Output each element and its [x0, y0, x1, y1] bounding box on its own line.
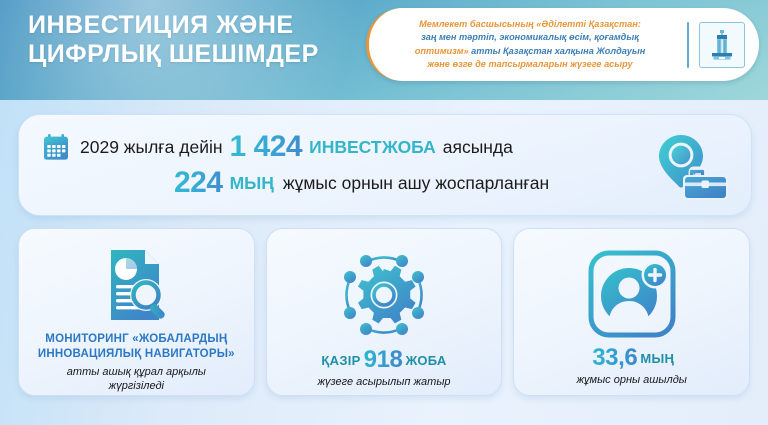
- card-jobs-created-unit: МЫҢ: [640, 351, 674, 366]
- mandate-line-2: заң мен тәртіп, экономикалық өсім, қоғам…: [381, 31, 679, 44]
- card-jobs-created-sub: жұмыс орны ашылды: [522, 374, 741, 386]
- card-active-projects-sub: жүзеге асырылып жатыр: [275, 376, 494, 388]
- gear-network-icon: [338, 249, 430, 346]
- panel-icon-group: [653, 131, 731, 203]
- card-active-projects: ҚАЗІР918ЖОБА жүзеге асырылып жатыр: [266, 228, 503, 396]
- stat-row1-label: ИНВЕСТЖОБА: [309, 137, 436, 158]
- document-chart-magnifier-icon: [94, 243, 178, 332]
- briefcase-icon: [683, 169, 728, 200]
- card-monitoring-title-1: МОНИТОРИНГ «ЖОБАЛАРДЫҢ: [27, 332, 246, 347]
- stat-row2-number: 224: [167, 166, 230, 200]
- main-stat-row-2: 224 МЫҢ жұмыс орнын ашу жоспарланған: [19, 166, 751, 200]
- card-monitoring-text: МОНИТОРИНГ «ЖОБАЛАРДЫҢ ИННОВАЦИЯЛЫҚ НАВИ…: [19, 332, 254, 405]
- card-active-projects-number: 918: [361, 346, 406, 373]
- mandate-line-3-rest: атты Қазақстан халқына Жолдауын: [469, 46, 646, 56]
- card-active-projects-prefix: ҚАЗІР: [321, 353, 360, 368]
- page-title: ИНВЕСТИЦИЯ ЖӘНЕ ЦИФРЛЫҚ ШЕШІМДЕР: [28, 11, 358, 69]
- main-stat-rows: 2029 жылға дейін 1 424 ИНВЕСТЖОБА аясынд…: [19, 115, 751, 215]
- card-active-projects-text: ҚАЗІР918ЖОБА жүзеге асырылып жатыр: [267, 346, 502, 399]
- calendar-icon: [41, 132, 71, 162]
- card-jobs-created-stat: 33,6МЫҢ: [522, 344, 741, 372]
- card-monitoring-title-2: ИННОВАЦИЯЛЫҚ НАВИГАТОРЫ»: [27, 347, 246, 362]
- main-stat-row-1: 2029 жылға дейін 1 424 ИНВЕСТЖОБА аясынд…: [19, 130, 751, 164]
- infographic-root: ИНВЕСТИЦИЯ ЖӘНЕ ЦИФРЛЫҚ ШЕШІМДЕР Мемлеке…: [0, 0, 768, 425]
- mandate-line-3: оптимизм» атты Қазақстан халқына Жолдауы…: [381, 45, 679, 58]
- badge-divider: [687, 22, 689, 68]
- header-banner: ИНВЕСТИЦИЯ ЖӘНЕ ЦИФРЛЫҚ ШЕШІМДЕР Мемлеке…: [0, 0, 768, 100]
- card-row: МОНИТОРИНГ «ЖОБАЛАРДЫҢ ИННОВАЦИЯЛЫҚ НАВИ…: [18, 228, 750, 396]
- mandate-badge: Мемлекет басшысының «Әділетті Қазақстан:…: [366, 8, 759, 81]
- stat-row1-prefix: 2029 жылға дейін: [80, 137, 223, 158]
- stat-row2-suffix: жұмыс орнын ашу жоспарланған: [274, 173, 549, 194]
- mandate-line-1: Мемлекет басшысының «Әділетті Қазақстан:: [381, 18, 679, 31]
- stat-row1-number: 1 424: [223, 130, 310, 164]
- mandate-line-4: және өзге де тапсырмаларын жүзеге асыру: [381, 58, 679, 71]
- card-monitoring: МОНИТОРИНГ «ЖОБАЛАРДЫҢ ИННОВАЦИЯЛЫҚ НАВИ…: [18, 228, 255, 396]
- mandate-badge-text: Мемлекет басшысының «Әділетті Қазақстан:…: [369, 18, 687, 71]
- stat-row1-suffix: аясында: [436, 137, 513, 158]
- card-active-projects-suffix: ЖОБА: [405, 353, 446, 368]
- page-title-line1: ИНВЕСТИЦИЯ ЖӘНЕ: [28, 11, 358, 40]
- card-jobs-created: 33,6МЫҢ жұмыс орны ашылды: [513, 228, 750, 396]
- card-monitoring-sub-1: атты ашық құрал арқылы: [27, 365, 246, 380]
- card-jobs-created-number: 33,6: [589, 344, 640, 371]
- card-monitoring-sub-2: жүргізіледі: [27, 379, 246, 394]
- card-jobs-created-text: 33,6МЫҢ жұмыс орны ашылды: [514, 344, 749, 397]
- page-title-line2: ЦИФРЛЫҚ ШЕШІМДЕР: [28, 40, 358, 69]
- stat-row2-unit: МЫҢ: [230, 173, 274, 194]
- add-user-icon: [587, 249, 677, 344]
- mandate-line-3-quote: оптимизм»: [415, 46, 469, 56]
- main-stat-panel: 2029 жылға дейін 1 424 ИНВЕСТЖОБА аясынд…: [18, 114, 752, 216]
- government-building-icon: [699, 22, 745, 68]
- card-active-projects-stat: ҚАЗІР918ЖОБА: [275, 346, 494, 374]
